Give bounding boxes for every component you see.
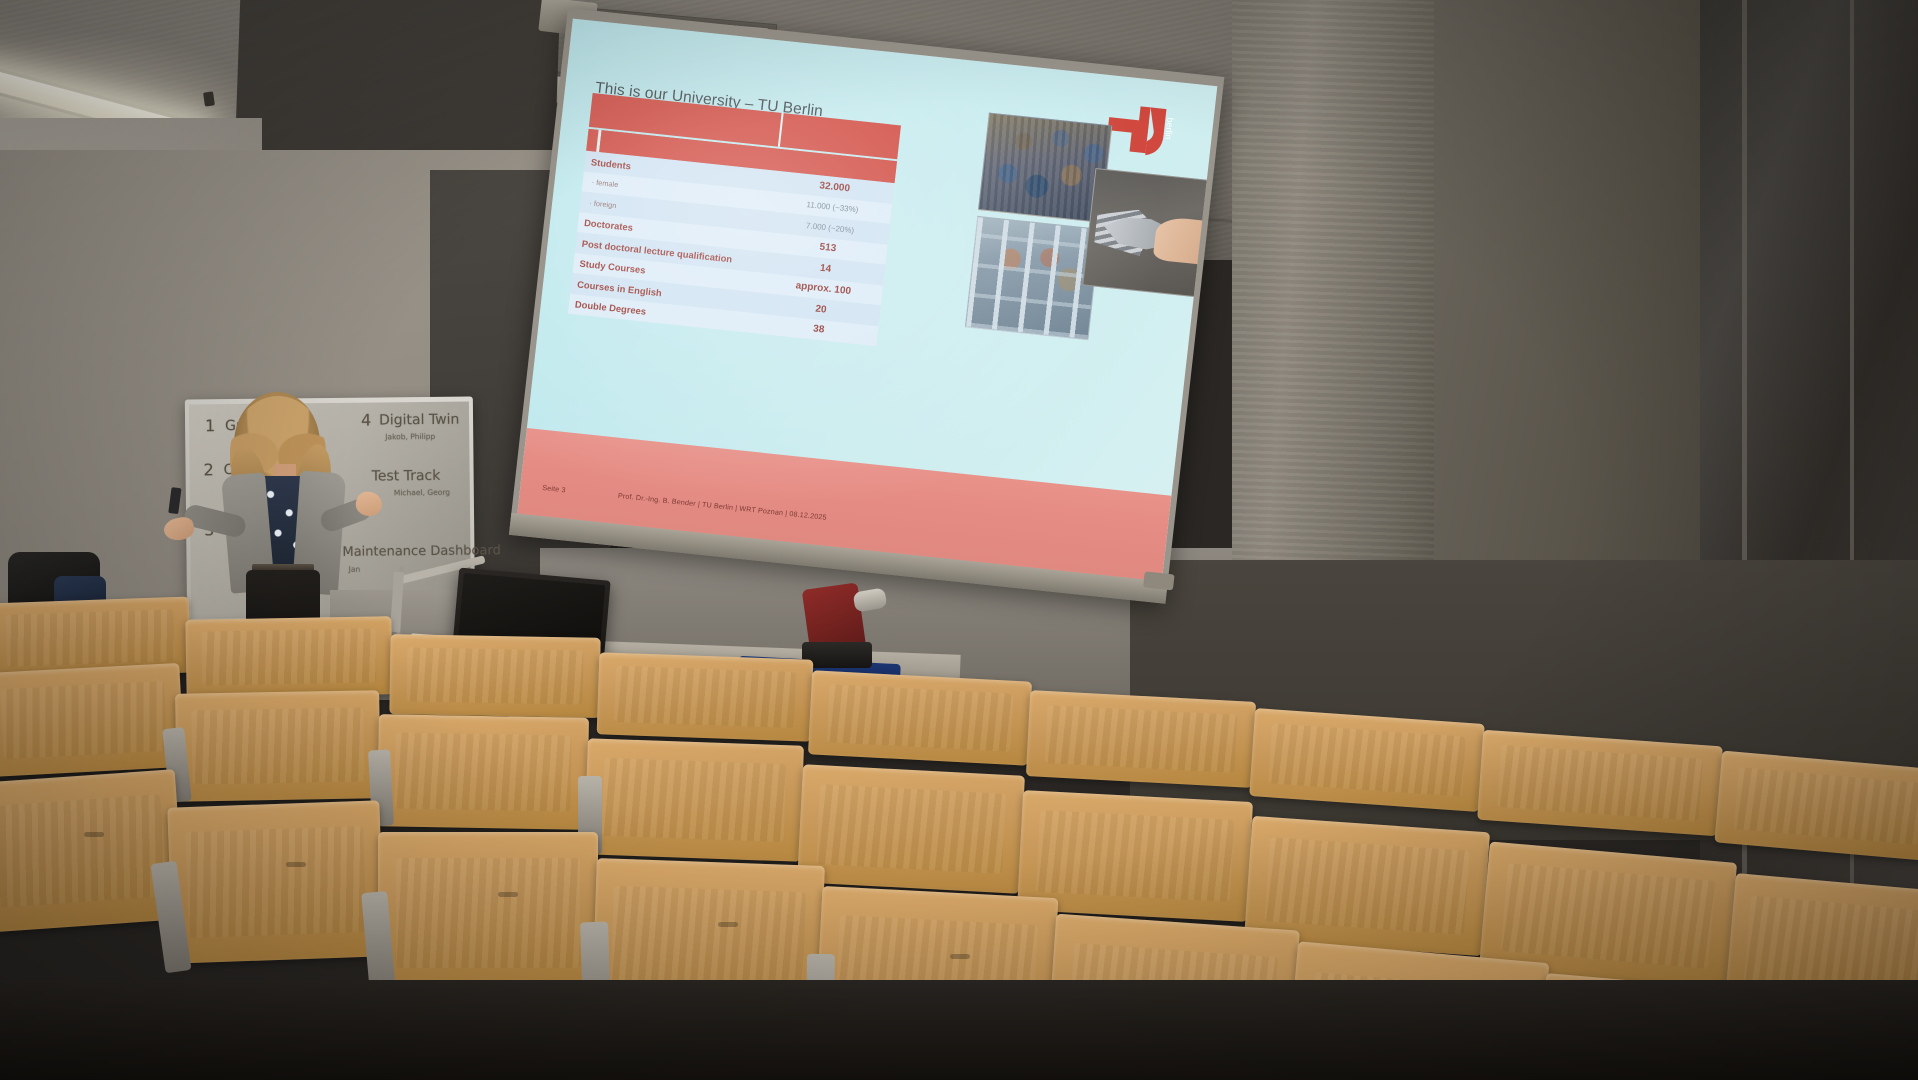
seat-row3-i xyxy=(1714,751,1918,862)
slide-photo-group xyxy=(965,113,1194,351)
seat-row3-h xyxy=(1477,730,1723,837)
seat-row2-b xyxy=(175,690,381,802)
seat-handle-5 xyxy=(950,954,970,959)
seat-row2-e xyxy=(797,764,1025,893)
table-body: Students32.000· female11.000 (~33%)· for… xyxy=(568,151,895,346)
seat-row3-f xyxy=(1026,690,1256,788)
projection-screen-assembly: berlin This is our University – TU Berli… xyxy=(540,0,1240,560)
seat-row1-b xyxy=(167,800,384,963)
slide-footer-credit: Prof. Dr.-Ing. B. Bender | TU Berlin | W… xyxy=(617,491,827,522)
lecture-hall-scene: berlin This is our University – TU Berli… xyxy=(0,0,1918,1080)
seat-row3-g xyxy=(1249,708,1485,812)
seat-handle-4 xyxy=(718,922,738,927)
seat-row3-c xyxy=(389,634,600,718)
slide-page-number: Seite 3 xyxy=(542,483,589,497)
seat-handle-2 xyxy=(286,862,306,867)
projection-screen: berlin This is our University – TU Berli… xyxy=(509,8,1224,604)
photo-laboratory xyxy=(965,216,1101,340)
seat-handle-3 xyxy=(498,892,518,897)
wb-names-4: Jakob, Philipp xyxy=(385,432,435,442)
seat-row2-a xyxy=(0,663,185,777)
seat-row2-d xyxy=(584,738,804,861)
photo-robot-handshake xyxy=(1082,168,1217,301)
seat-handle-1 xyxy=(84,832,104,837)
stats-table: Students32.000· female11.000 (~33%)· for… xyxy=(568,93,901,346)
wb-names-5: Michael, Georg xyxy=(394,488,450,498)
ceiling-sprinkler xyxy=(203,91,215,106)
slide: berlin This is our University – TU Berli… xyxy=(517,19,1217,584)
seat-row1-c xyxy=(378,832,598,994)
seat-row3-b xyxy=(185,616,392,698)
presenter-hand-left xyxy=(162,515,196,543)
screen-surface: berlin This is our University – TU Berli… xyxy=(517,19,1217,584)
floor xyxy=(0,980,1918,1080)
seat-row3-d xyxy=(597,652,814,741)
seat-row3-e xyxy=(808,670,1032,765)
screen-roller-cap xyxy=(1143,571,1175,590)
wb-head-4: Digital Twin xyxy=(379,412,459,429)
seat-row2-c xyxy=(377,714,589,830)
